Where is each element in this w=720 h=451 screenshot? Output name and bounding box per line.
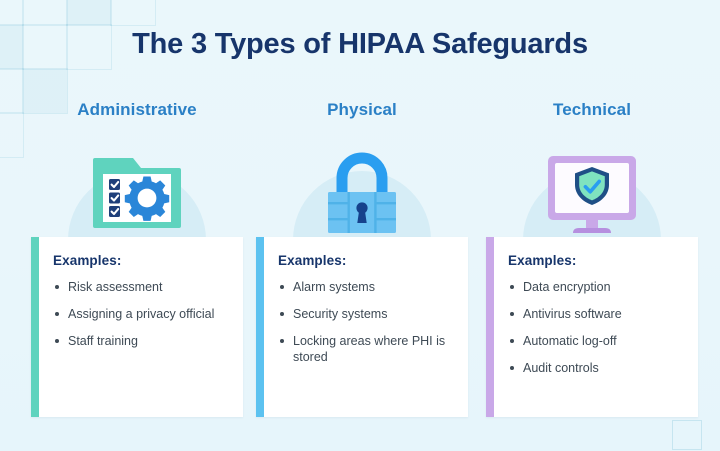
examples-label: Examples: — [278, 253, 458, 268]
examples-card-technical: Examples: Data encryption Antivirus soft… — [486, 237, 698, 417]
list-item: Automatic log-off — [508, 333, 688, 349]
list-item: Data encryption — [508, 279, 688, 295]
icon-administrative — [31, 148, 243, 240]
card-body: Examples: Alarm systems Security systems… — [264, 237, 468, 417]
examples-card-administrative: Examples: Risk assessment Assigning a pr… — [31, 237, 243, 417]
icon-technical — [486, 148, 698, 240]
padlock-icon — [316, 150, 408, 243]
column-physical: Physical — [256, 0, 468, 451]
infographic-canvas: The 3 Types of HIPAA Safeguards Administ… — [0, 0, 720, 451]
card-accent-bar-technical — [486, 237, 494, 417]
column-administrative: Administrative — [31, 0, 243, 451]
examples-label: Examples: — [508, 253, 688, 268]
card-accent-bar-physical — [256, 237, 264, 417]
list-item: Risk assessment — [53, 279, 233, 295]
column-heading-technical: Technical — [486, 100, 698, 120]
monitor-shield-check-icon — [540, 150, 644, 243]
list-item: Assigning a privacy official — [53, 306, 233, 322]
list-item: Security systems — [278, 306, 458, 322]
list-item: Alarm systems — [278, 279, 458, 295]
column-heading-physical: Physical — [256, 100, 468, 120]
list-item: Locking areas where PHI is stored — [278, 333, 458, 365]
card-body: Examples: Risk assessment Assigning a pr… — [39, 237, 243, 417]
list-item: Antivirus software — [508, 306, 688, 322]
card-body: Examples: Data encryption Antivirus soft… — [494, 237, 698, 417]
list-item: Staff training — [53, 333, 233, 349]
column-heading-administrative: Administrative — [31, 100, 243, 120]
list-item: Audit controls — [508, 360, 688, 376]
card-accent-bar-administrative — [31, 237, 39, 417]
examples-list-physical: Alarm systems Security systems Locking a… — [278, 279, 458, 365]
column-technical: Technical — [486, 0, 698, 451]
examples-label: Examples: — [53, 253, 233, 268]
icon-physical — [256, 148, 468, 240]
examples-card-physical: Examples: Alarm systems Security systems… — [256, 237, 468, 417]
examples-list-technical: Data encryption Antivirus software Autom… — [508, 279, 688, 376]
examples-list-administrative: Risk assessment Assigning a privacy offi… — [53, 279, 233, 349]
folder-checklist-gear-icon — [89, 150, 185, 241]
